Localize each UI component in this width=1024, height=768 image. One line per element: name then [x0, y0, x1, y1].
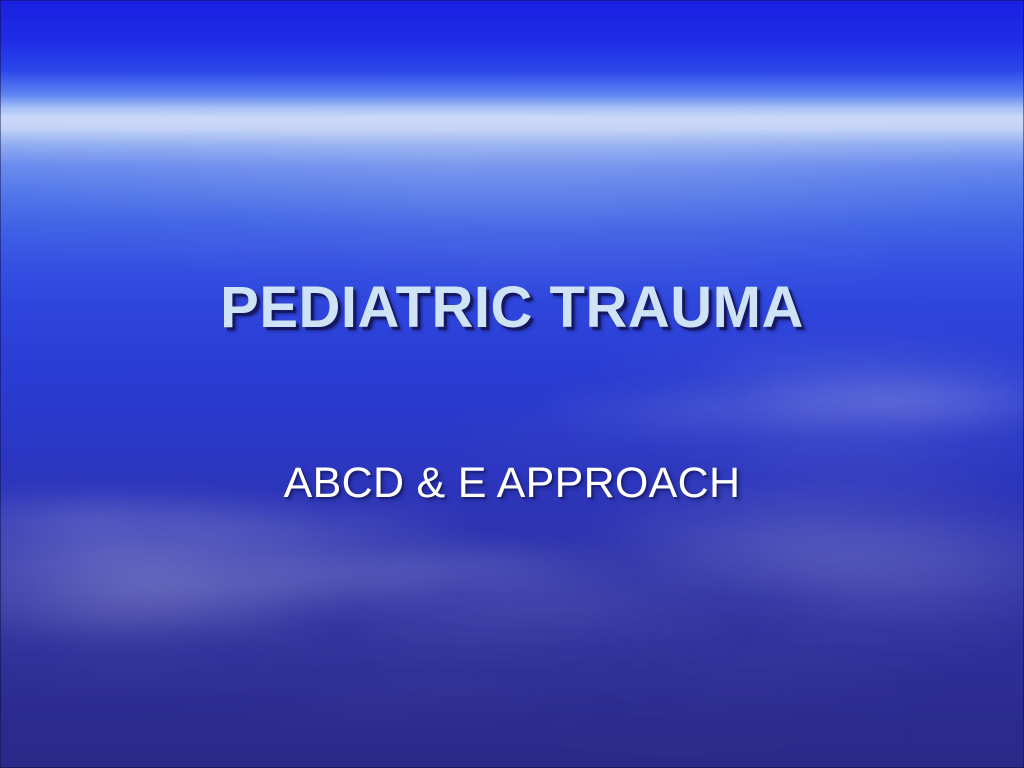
- title-slide: PEDIATRIC TRAUMA ABCD & E APPROACH: [0, 0, 1024, 768]
- sky-gradient-background: [0, 0, 1024, 768]
